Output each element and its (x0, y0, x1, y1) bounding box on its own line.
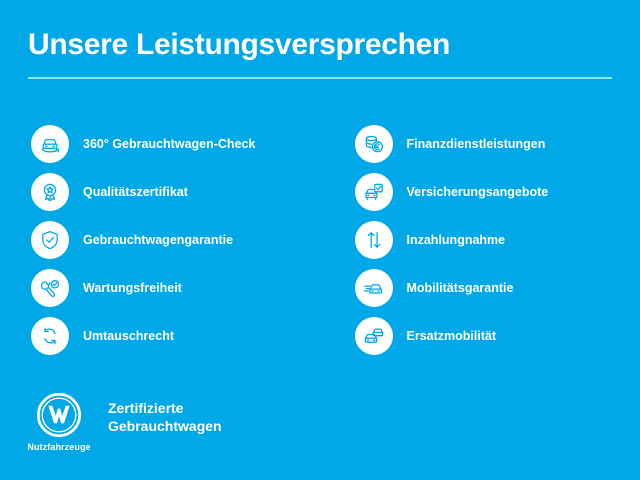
feature-item-qualitaetszertifikat: Qualitätszertifikat (31, 168, 317, 216)
feature-item-finanzdienstleistungen: Finanzdienstleistungen (355, 120, 640, 168)
award-rosette-icon (31, 173, 69, 211)
feature-label: Finanzdienstleistungen (407, 137, 546, 152)
wrench-check-icon (31, 269, 69, 307)
feature-label: Versicherungsangebote (407, 185, 549, 200)
car-clipboard-icon (355, 173, 393, 211)
coins-euro-icon (355, 125, 393, 163)
car-speed-icon (355, 269, 393, 307)
shield-check-icon (31, 221, 69, 259)
features-section: 360° Gebrauchtwagen-Check Qualitätszerti… (0, 120, 640, 360)
brand-claim-line-1: Zertifizierte (108, 400, 222, 418)
brand-mark: Nutzfahrzeuge (28, 392, 90, 452)
feature-item-mobilitaetsgarantie: Mobilitätsgarantie (355, 264, 640, 312)
feature-label: Inzahlungnahme (407, 233, 506, 248)
title-divider (28, 77, 612, 79)
feature-label: Ersatzmobilität (407, 329, 497, 344)
feature-item-inzahlungnahme: Inzahlungnahme (355, 216, 640, 264)
page-title: Unsere Leistungsversprechen (28, 28, 612, 61)
feature-column-left: 360° Gebrauchtwagen-Check Qualitätszerti… (0, 120, 317, 360)
feature-label: Gebrauchtwagengarantie (83, 233, 233, 248)
feature-item-versicherungsangebote: Versicherungsangebote (355, 168, 640, 216)
feature-item-ersatzmobilitaet: Ersatzmobilität (355, 312, 640, 360)
feature-label: Mobilitätsgarantie (407, 281, 514, 296)
feature-item-gebrauchtwagengarantie: Gebrauchtwagengarantie (31, 216, 317, 264)
feature-label: Wartungsfreiheit (83, 281, 182, 296)
promo-slide: Unsere Leistungsversprechen 360° Gebrauc (0, 0, 640, 480)
two-cars-icon (355, 317, 393, 355)
exchange-arrows-icon (31, 317, 69, 355)
feature-item-gebrauchtwagen-check: 360° Gebrauchtwagen-Check (31, 120, 317, 168)
feature-item-umtauschrecht: Umtauschrecht (31, 312, 317, 360)
feature-label: 360° Gebrauchtwagen-Check (83, 137, 255, 152)
feature-item-wartungsfreiheit: Wartungsfreiheit (31, 264, 317, 312)
brand-claim: Zertifizierte Gebrauchtwagen (108, 400, 222, 444)
feature-label: Umtauschrecht (83, 329, 174, 344)
brand-claim-line-2: Gebrauchtwagen (108, 418, 222, 436)
volkswagen-logo (36, 392, 82, 438)
brand-subtext: Nutzfahrzeuge (27, 442, 90, 452)
car-360-check-icon (31, 125, 69, 163)
feature-label: Qualitätszertifikat (83, 185, 188, 200)
footer-brand: Nutzfahrzeuge Zertifizierte Gebrauchtwag… (28, 392, 222, 452)
up-down-arrows-icon (355, 221, 393, 259)
header: Unsere Leistungsversprechen (28, 28, 612, 79)
feature-column-right: Finanzdienstleistungen Versicheru (317, 120, 640, 360)
